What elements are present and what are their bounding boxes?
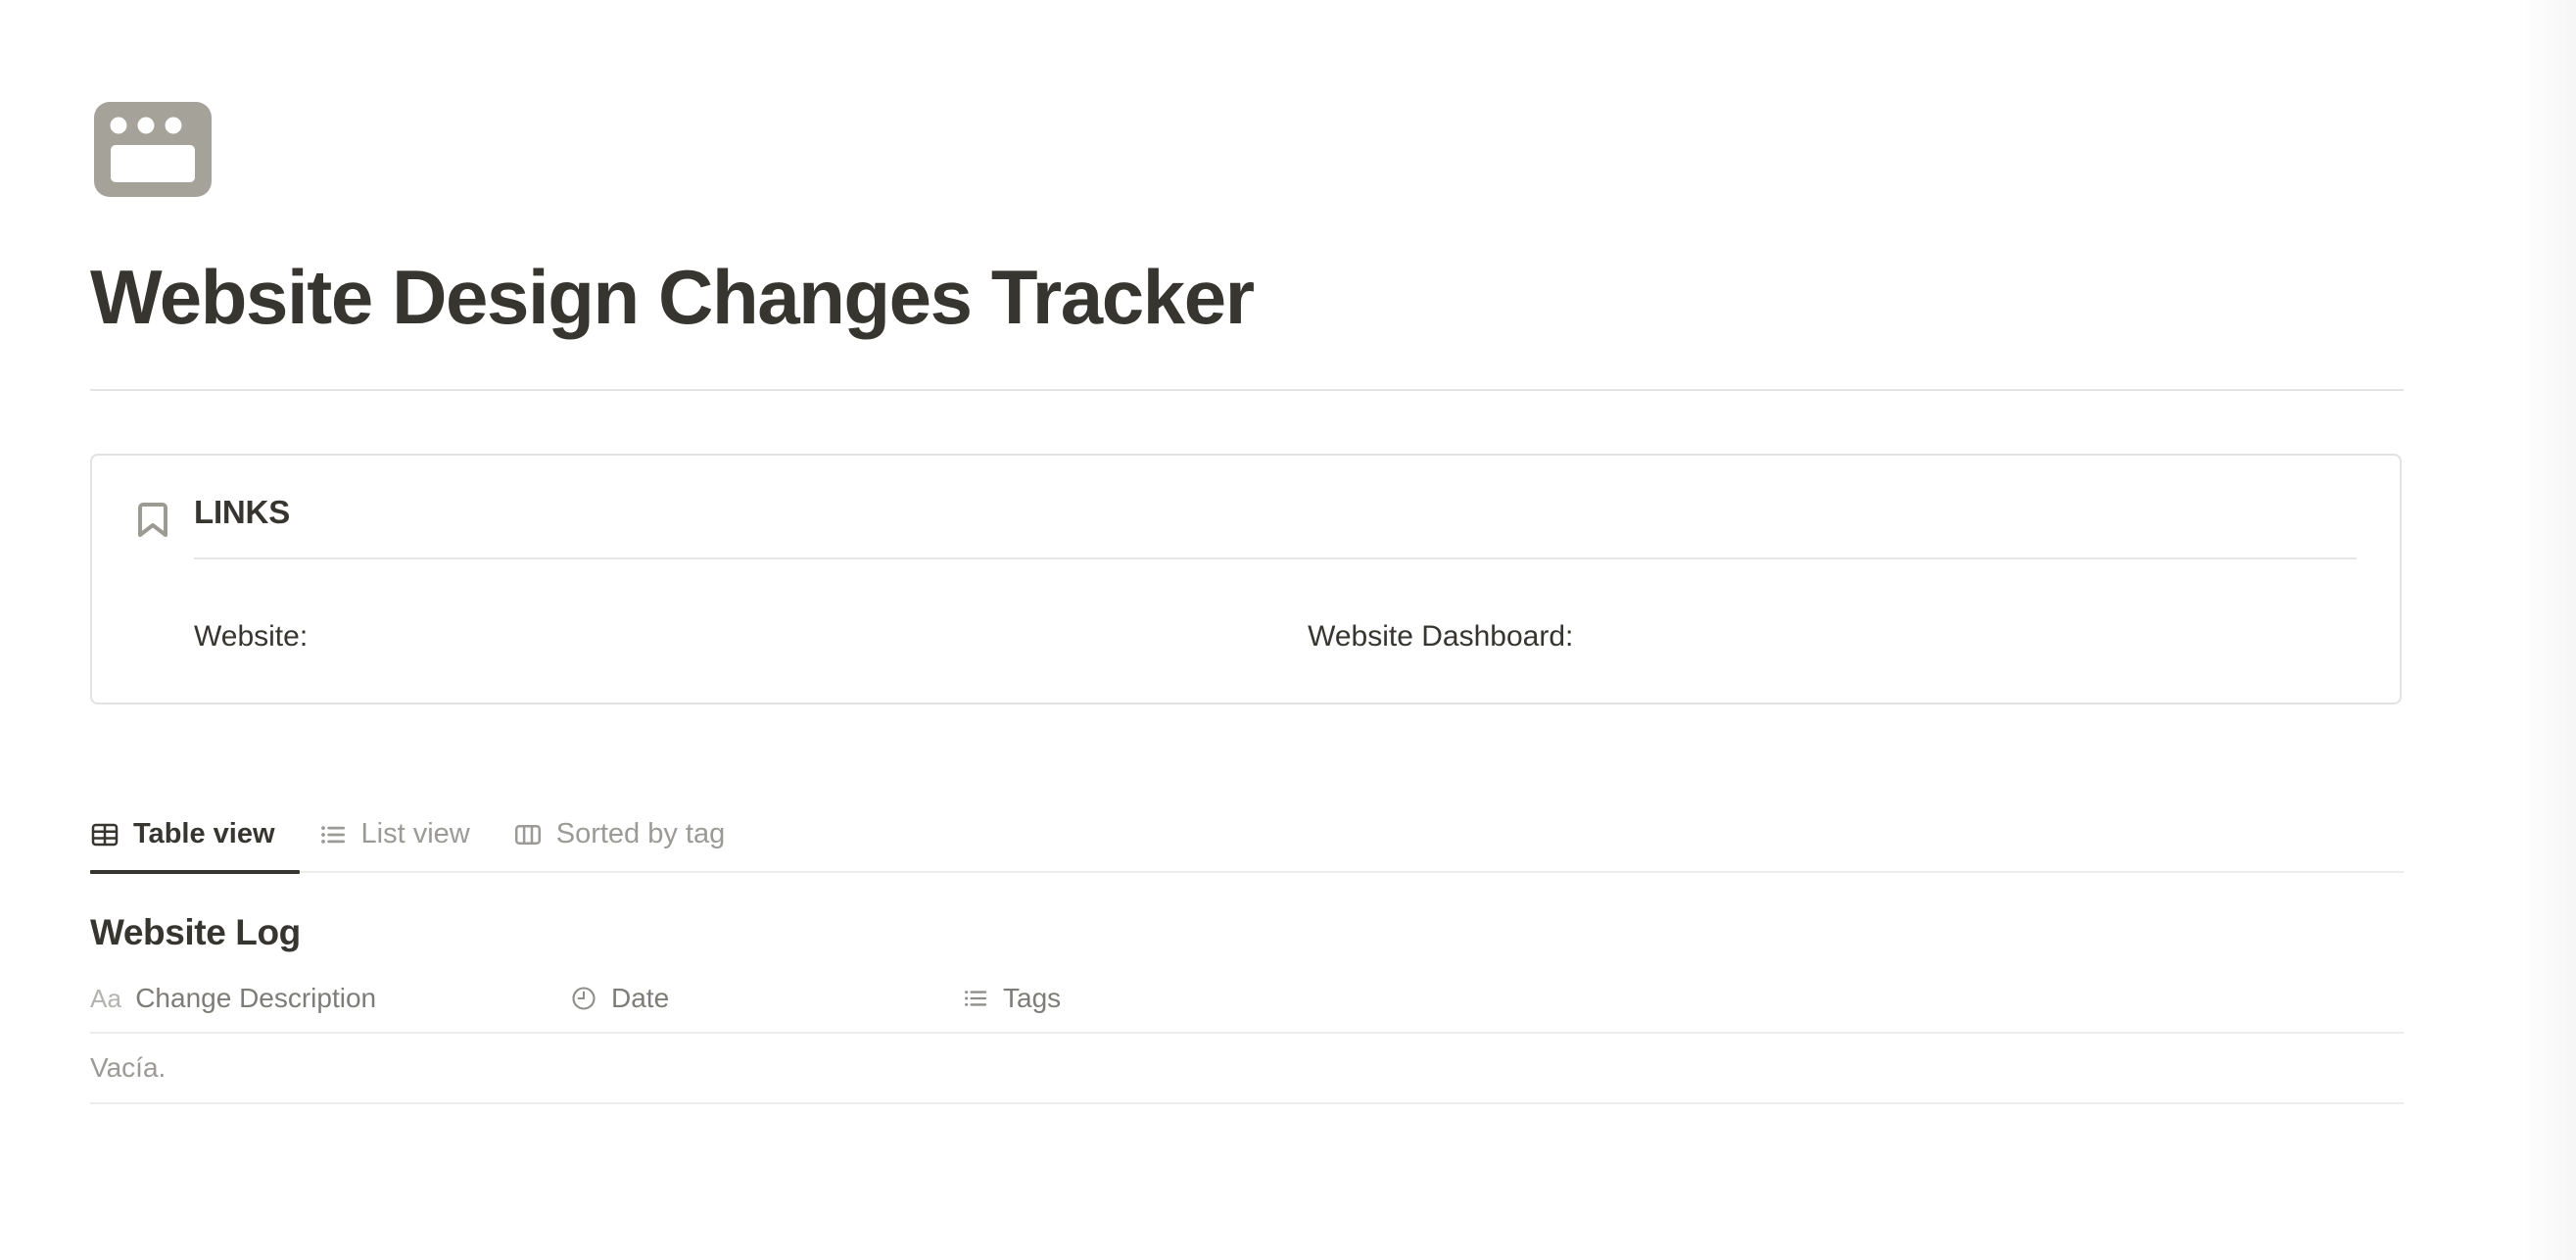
callout-column-website-dashboard[interactable]: Website Dashboard: (1308, 616, 2357, 657)
column-header-tags-label: Tags (1003, 985, 1061, 1012)
table-header-row: Aa Change Description Date (90, 985, 2404, 1034)
text-aa-icon: Aa (90, 986, 121, 1011)
column-header-tags[interactable]: Tags (962, 985, 1354, 1012)
column-header-date[interactable]: Date (570, 985, 962, 1012)
clock-icon (570, 985, 597, 1012)
callout-columns: Website: Website Dashboard: (194, 616, 2357, 657)
table-empty-row[interactable]: Vacía. (90, 1034, 2404, 1104)
notion-page: Website Design Changes Tracker LINKS Web… (0, 0, 2576, 1260)
view-tab-list: Table view List view (90, 820, 2404, 871)
tab-table-view[interactable]: Table view (90, 820, 275, 849)
tab-table-view-label: Table view (133, 820, 275, 848)
multi-select-icon (962, 985, 989, 1012)
title-divider (90, 389, 2404, 391)
board-icon (513, 820, 543, 849)
tab-sorted-by-tag-label: Sorted by tag (556, 820, 726, 848)
database-views: Table view List view (90, 820, 2404, 873)
column-header-change-description-label: Change Description (135, 985, 376, 1012)
callout-column-website[interactable]: Website: (194, 616, 1308, 657)
tab-sorted-by-tag[interactable]: Sorted by tag (513, 820, 726, 849)
active-tab-underline (90, 870, 300, 874)
database-title[interactable]: Website Log (90, 912, 2404, 953)
tab-list-view-label: List view (361, 820, 470, 848)
view-tabs-divider (90, 871, 2404, 873)
page-title[interactable]: Website Design Changes Tracker (90, 258, 2404, 338)
page-right-edge-fade (2517, 0, 2576, 1260)
column-header-date-label: Date (611, 985, 669, 1012)
callout-heading: LINKS (194, 493, 2357, 532)
table-icon (90, 820, 119, 849)
callout-header: LINKS Website: Website Dashboard: (135, 493, 2357, 657)
links-callout[interactable]: LINKS Website: Website Dashboard: (90, 454, 2402, 704)
table-empty-message: Vacía. (90, 1052, 166, 1084)
page-content: Website Design Changes Tracker LINKS Web… (90, 0, 2404, 1104)
tab-list-view[interactable]: List view (318, 820, 470, 849)
column-header-change-description[interactable]: Aa Change Description (90, 985, 570, 1012)
list-icon (318, 820, 348, 849)
bookmark-icon (135, 501, 170, 540)
browser-window-icon[interactable] (90, 98, 215, 201)
callout-divider (194, 557, 2357, 559)
